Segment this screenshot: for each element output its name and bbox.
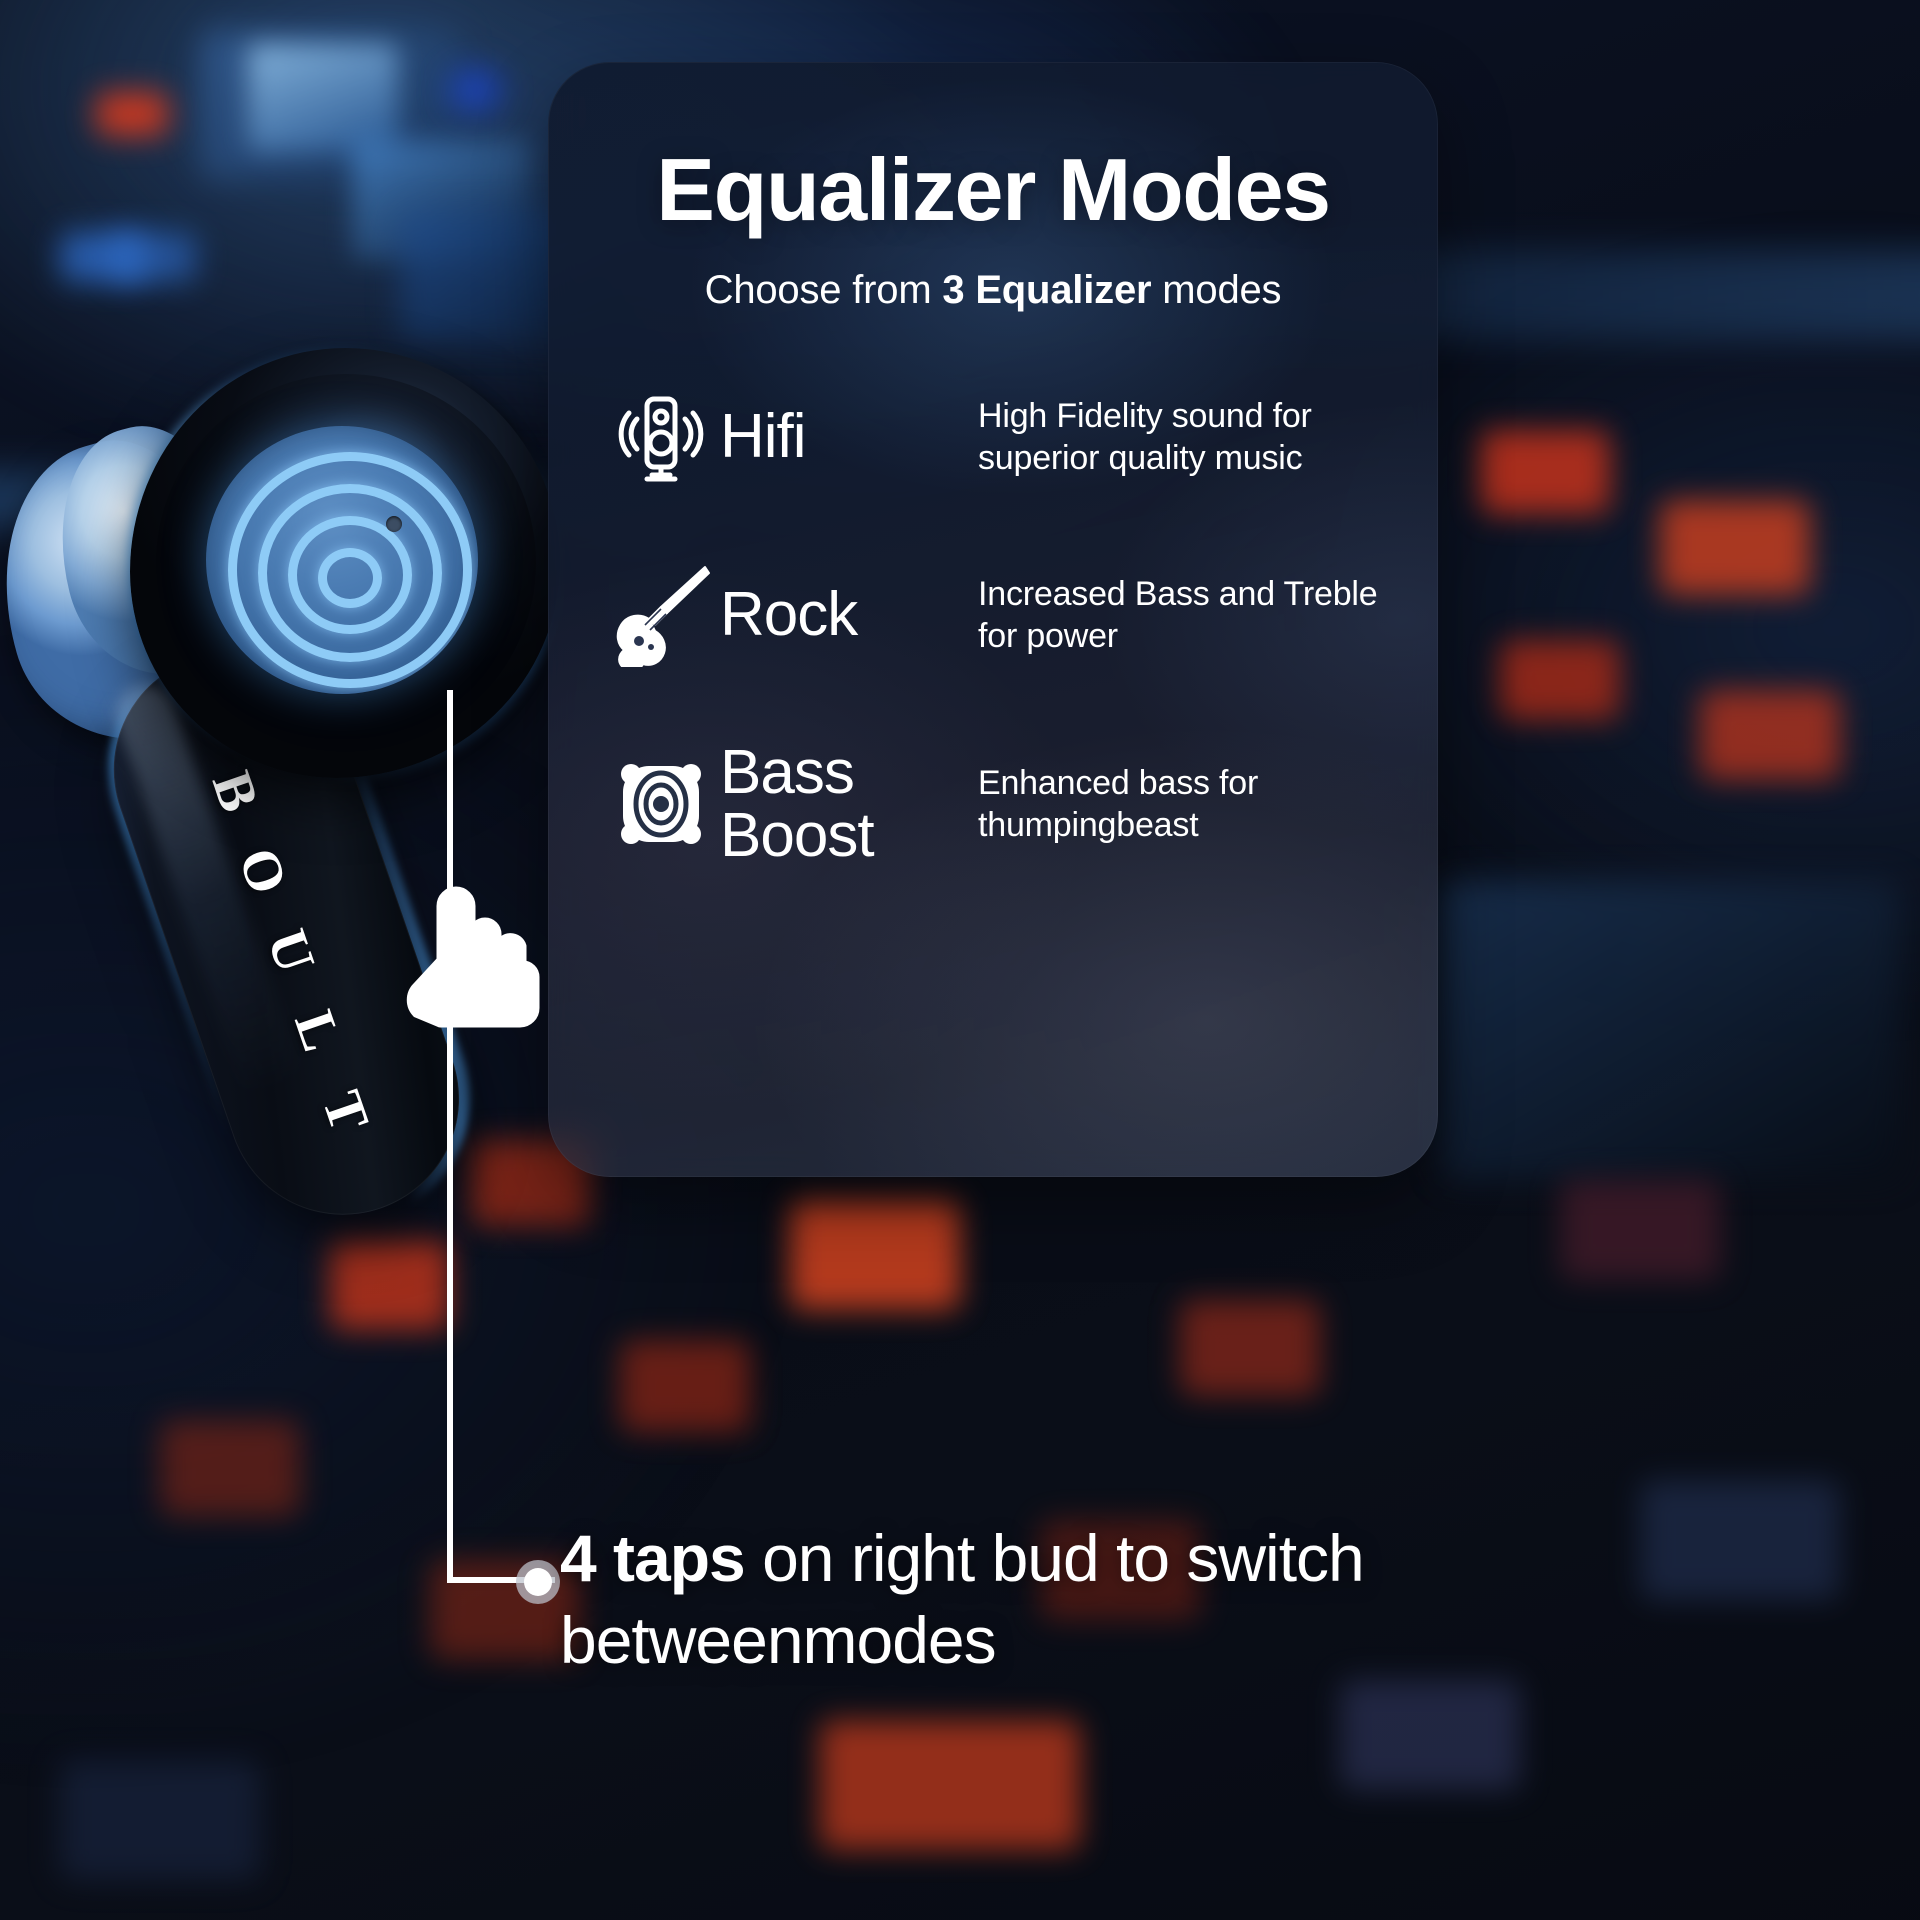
brand-letter: O bbox=[227, 841, 299, 904]
woofer-speaker-icon bbox=[602, 752, 720, 856]
brand-letter: B bbox=[201, 764, 271, 821]
touch-ripple-ring bbox=[318, 548, 382, 608]
mode-desc-hifi: High Fidelity sound for superior quality… bbox=[964, 395, 1384, 480]
subtitle-prefix: Choose from bbox=[705, 268, 943, 312]
mode-name-bass-boost: Bass Boost bbox=[720, 741, 964, 867]
mode-row-bass-boost[interactable]: Bass Boost Enhanced bass for thumpingbea… bbox=[602, 741, 1384, 867]
callout-leader-line bbox=[440, 690, 560, 1590]
tap-instruction-caption: 4 taps on right bud to switch betweenmod… bbox=[560, 1518, 1800, 1682]
callout-dot-inner bbox=[524, 1568, 552, 1596]
equalizer-mode-list: Hifi High Fidelity sound for superior qu… bbox=[602, 385, 1384, 867]
bg-led bbox=[820, 1720, 1080, 1850]
mode-name-hifi: Hifi bbox=[720, 405, 964, 468]
bg-led bbox=[1180, 1300, 1320, 1396]
touch-control-area[interactable] bbox=[206, 426, 478, 694]
mode-desc-rock: Increased Bass and Treble for power bbox=[964, 573, 1384, 658]
bg-led bbox=[1560, 1180, 1720, 1280]
brand-letter: L bbox=[283, 1004, 353, 1061]
bg-led bbox=[96, 92, 168, 136]
electric-guitar-icon bbox=[602, 563, 720, 667]
bg-led bbox=[1700, 690, 1840, 780]
bg-led bbox=[1480, 430, 1610, 514]
product-feature-graphic: B O U L T Equalizer Modes bbox=[0, 0, 1920, 1920]
bg-screen bbox=[248, 44, 398, 152]
bg-led bbox=[160, 1420, 300, 1516]
mode-row-rock[interactable]: Rock Increased Bass and Treble for power bbox=[602, 563, 1384, 667]
mode-desc-bass-boost: Enhanced bass for thumpingbeast bbox=[964, 762, 1384, 847]
caption-strong: 4 taps bbox=[560, 1521, 745, 1595]
bg-led bbox=[1660, 500, 1810, 595]
bg-led bbox=[330, 1240, 450, 1330]
microphone-hole bbox=[386, 516, 402, 532]
card-subtitle: Choose from 3 Equalizer modes bbox=[602, 268, 1384, 313]
tower-speaker-icon bbox=[602, 385, 720, 489]
bg-led bbox=[1500, 640, 1620, 720]
page-title: Equalizer Modes bbox=[602, 146, 1384, 234]
bg-led bbox=[60, 1760, 260, 1880]
bg-led bbox=[1340, 1680, 1520, 1790]
bg-led bbox=[110, 232, 196, 282]
bg-led bbox=[450, 70, 500, 110]
bg-led bbox=[790, 1200, 960, 1310]
equalizer-info-card: Equalizer Modes Choose from 3 Equalizer … bbox=[548, 62, 1438, 1177]
mode-name-rock: Rock bbox=[720, 583, 964, 646]
bg-panel bbox=[1440, 880, 1900, 1180]
brand-letter: T bbox=[311, 1083, 381, 1140]
bg-led bbox=[620, 1340, 750, 1432]
subtitle-suffix: modes bbox=[1151, 268, 1281, 312]
mode-row-hifi[interactable]: Hifi High Fidelity sound for superior qu… bbox=[602, 385, 1384, 489]
brand-letter: U bbox=[255, 922, 326, 982]
subtitle-strong: 3 Equalizer bbox=[942, 268, 1151, 312]
